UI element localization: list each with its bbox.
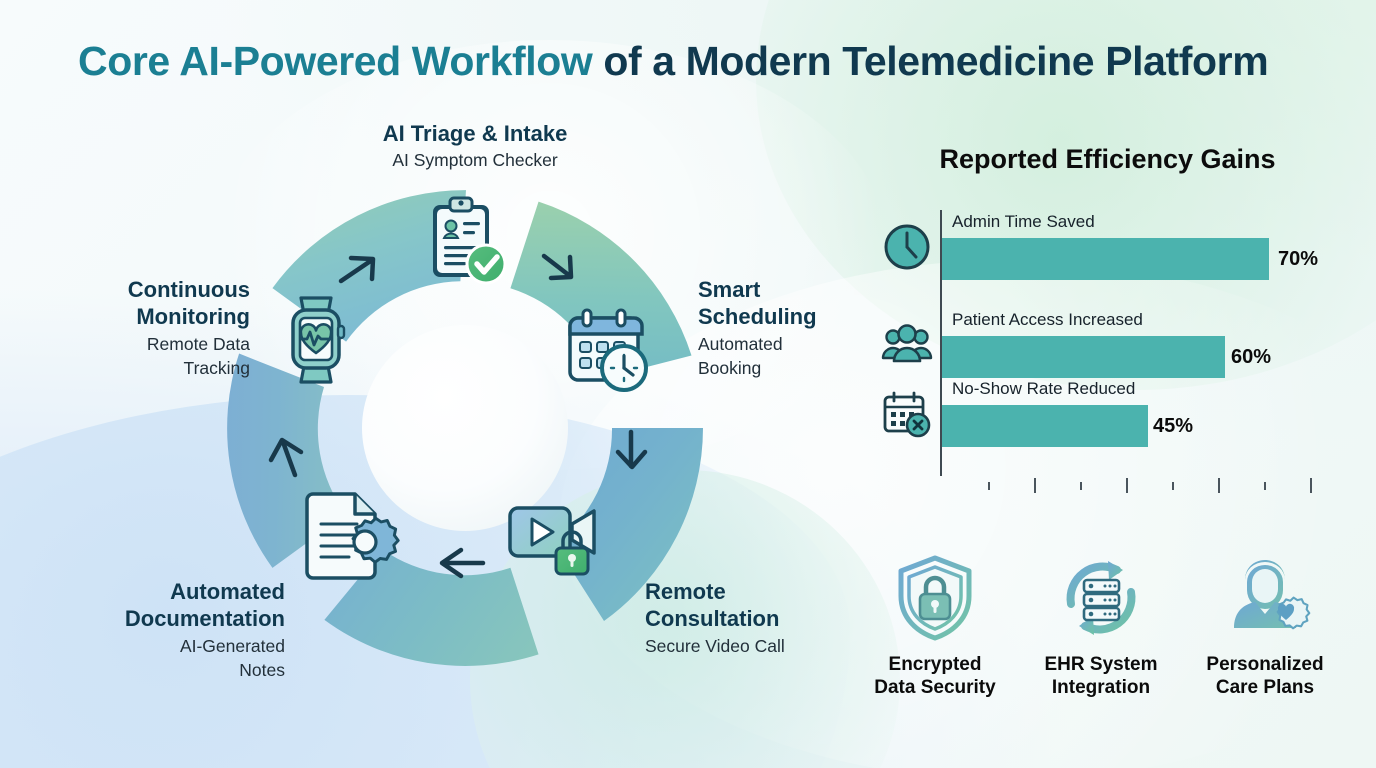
cycle-label-smart-scheduling-heading-line1: Smart [698,276,888,303]
chart-bar-patient-access-increased [942,336,1225,378]
cycle-center-hole [362,325,568,531]
cycle-label-ai-triage-heading: AI Triage & Intake [330,120,620,147]
x-tick-40 [1172,482,1174,490]
cycle-label-smart-scheduling-subtitle-line1: Automated [698,333,888,355]
chart-bar-admin-time-saved [942,238,1269,280]
chart-value-admin-time-saved: 70% [1278,248,1318,271]
cycle-label-automated-documentation-heading-line2: Documentation [55,605,285,632]
cycle-label-continuous-monitoring-subtitle-line2: Tracking [40,357,250,379]
page-title: Core AI-Powered Workflow of a Modern Tel… [78,38,1268,85]
chart-value-patient-access-increased: 60% [1231,346,1271,369]
shield-lock-icon [852,552,1018,644]
calendar-clock-icon [570,310,646,390]
cycle-arrow-remote-to-documentation [442,550,483,576]
workflow-cycle-diagram [215,178,715,673]
x-tick-24 [1080,482,1082,490]
x-tick-48 [1218,478,1220,493]
chart-x-axis-ticks [942,478,1332,494]
person-gear-heart-icon [1182,552,1348,644]
sync-servers-icon [1018,552,1184,644]
cycle-label-remote-consultation-subtitle: Secure Video Call [645,635,875,657]
clock-icon [880,222,934,272]
calendar-cancel-icon [880,389,934,439]
x-tick-64 [1310,478,1312,493]
chart-label-admin-time-saved: Admin Time Saved [952,212,1095,232]
chart-title: Reported Efficiency Gains [930,144,1285,175]
feature-ehr-system-integration[interactable]: EHR System Integration [1018,552,1184,699]
x-tick-8 [988,482,990,490]
people-group-icon [880,320,934,370]
cycle-label-smart-scheduling[interactable]: Smart Scheduling Automated Booking [698,276,888,379]
cycle-label-ai-triage-subtitle: AI Symptom Checker [330,149,620,171]
feature-ehr-system-integration-line1: EHR System [1018,653,1184,676]
cycle-label-automated-documentation-heading-line1: Automated [55,578,285,605]
cycle-label-automated-documentation[interactable]: Automated Documentation AI-Generated Not… [55,578,285,681]
cycle-label-remote-consultation[interactable]: Remote Consultation Secure Video Call [645,578,875,657]
cycle-label-automated-documentation-subtitle-line1: AI-Generated [55,635,285,657]
feature-highlights: Encrypted Data Security [852,552,1352,732]
cycle-label-smart-scheduling-heading-line2: Scheduling [698,303,888,330]
chart-bar-no-show-rate-reduced [942,405,1148,447]
feature-encrypted-data-security-line1: Encrypted [852,653,1018,676]
cycle-label-automated-documentation-subtitle-line2: Notes [55,659,285,681]
feature-personalized-care-plans[interactable]: Personalized Care Plans [1182,552,1348,699]
video-lock-icon [510,508,594,574]
x-tick-32 [1126,478,1128,493]
chart-label-no-show-rate-reduced: No-Show Rate Reduced [952,379,1135,399]
clipboard-check-icon [433,198,505,283]
page-title-rest: of a Modern Telemedicine Platform [592,38,1268,84]
chart-label-patient-access-increased: Patient Access Increased [952,310,1143,330]
cycle-label-continuous-monitoring-heading-line2: Monitoring [40,303,250,330]
feature-encrypted-data-security-line2: Data Security [852,676,1018,699]
cycle-label-continuous-monitoring-heading-line1: Continuous [40,276,250,303]
chart-value-no-show-rate-reduced: 45% [1153,415,1193,438]
cycle-label-continuous-monitoring-subtitle-line1: Remote Data [40,333,250,355]
x-tick-56 [1264,482,1266,490]
cycle-label-ai-triage[interactable]: AI Triage & Intake AI Symptom Checker [330,120,620,172]
feature-encrypted-data-security[interactable]: Encrypted Data Security [852,552,1018,699]
feature-personalized-care-plans-line2: Care Plans [1182,676,1348,699]
cycle-label-remote-consultation-heading-line2: Consultation [645,605,875,632]
cycle-label-continuous-monitoring[interactable]: Continuous Monitoring Remote Data Tracki… [40,276,250,379]
cycle-label-remote-consultation-heading-line1: Remote [645,578,875,605]
page-title-accent: Core AI-Powered Workflow [78,38,592,84]
efficiency-gains-chart: Admin Time Saved 70% Patient Access Incr… [862,196,1362,496]
x-tick-16 [1034,478,1036,493]
cycle-svg [215,178,715,673]
feature-personalized-care-plans-line1: Personalized [1182,653,1348,676]
feature-ehr-system-integration-line2: Integration [1018,676,1184,699]
cycle-label-smart-scheduling-subtitle-line2: Booking [698,357,888,379]
